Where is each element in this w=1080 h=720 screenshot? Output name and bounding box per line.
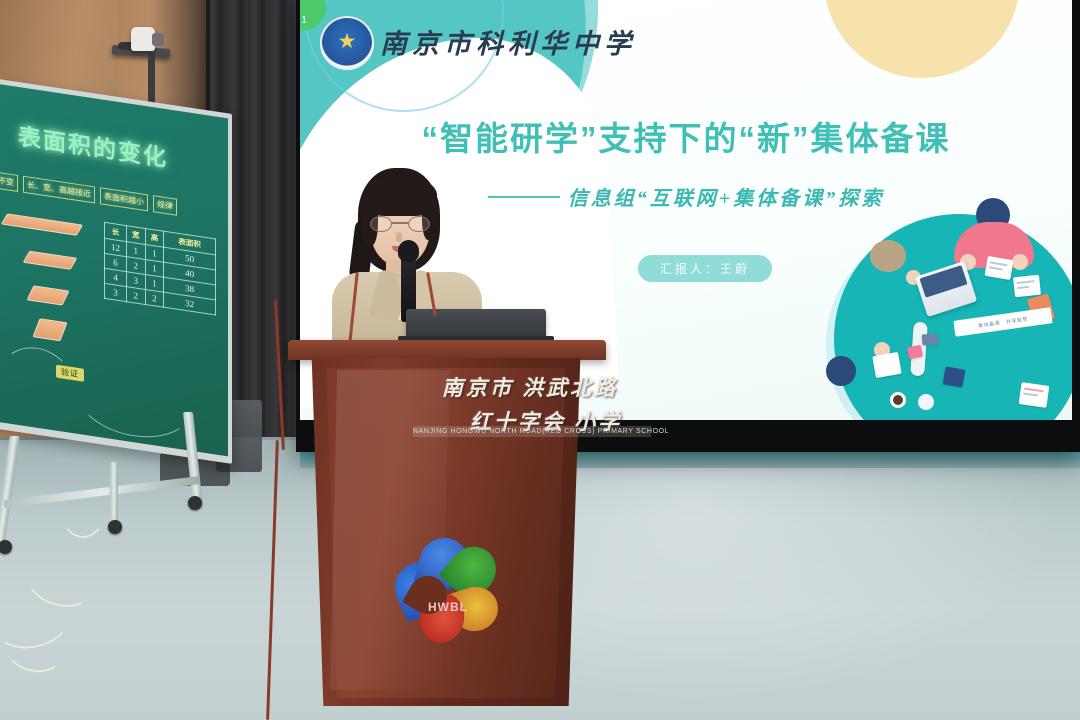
floor-cable <box>58 468 108 538</box>
blackboard-tag: 积不变 <box>0 170 18 192</box>
emblem-bird-glyph: ★ <box>338 31 357 52</box>
podium-logo: HWBL <box>393 534 503 644</box>
podium-laptop[interactable] <box>406 309 546 339</box>
lens-right <box>408 216 430 232</box>
hair-side-right <box>422 190 437 240</box>
paper-strip-model <box>23 251 78 270</box>
paper-strip-model <box>32 318 67 341</box>
blackboard-tag: 长、宽、高越接近 <box>23 176 95 204</box>
caster-wheel <box>188 496 202 510</box>
caster-wheel <box>108 520 122 534</box>
podium-top-surface <box>288 340 606 360</box>
slide-school-name: 南京市科利华中学 <box>380 22 636 61</box>
photo-scene: 1 ★ 南京市科利华中学 “智能研学”支持下的“新”集体备课 信息组“互联网+集… <box>0 0 1080 720</box>
slide-title: “智能研学”支持下的“新”集体备课 <box>300 112 1072 160</box>
cell: 2 <box>126 287 145 305</box>
nose <box>396 232 402 242</box>
person-hand-2 <box>1012 254 1028 270</box>
cell: 3 <box>105 283 127 301</box>
podium-name-line1: 南京市 洪武北路 <box>442 376 618 400</box>
eyeglasses-icon <box>370 216 430 232</box>
illustration-card <box>922 333 939 345</box>
slide-number: 1 <box>301 15 307 26</box>
lens-left <box>370 216 392 232</box>
paper-strip-model <box>26 285 69 305</box>
paper-strip-model <box>1 213 83 235</box>
person-head <box>870 240 906 272</box>
blackboard-tag: 规律 <box>153 195 177 216</box>
blackboard-table: 长 宽 高 表面积 12 1 1 50 6 2 1 <box>104 222 216 316</box>
podium-school-name-en: NANJING HONGWU NORTH ROAD(RED CROSS) PRI… <box>413 426 651 437</box>
camera-lens-icon <box>152 33 164 46</box>
illustration-paper <box>1013 275 1041 298</box>
reporter-badge: 汇报人：王蔚 <box>638 255 772 282</box>
microphone-icon <box>398 240 419 262</box>
podium-logo-text: HWBL <box>393 600 503 614</box>
school-emblem-icon: ★ <box>320 16 374 70</box>
illustration-paper <box>984 256 1013 280</box>
blackboard-center-post <box>110 462 118 524</box>
cell: 2 <box>145 289 164 307</box>
banner-label-right: 共享智慧 <box>1005 315 1028 325</box>
glasses-bridge <box>392 222 408 224</box>
blackboard-tag: 表面积越小 <box>100 187 148 211</box>
banner-label-left: 集体备课 <box>978 319 1001 329</box>
blackboard-title: 表面积的变化 <box>18 117 168 173</box>
